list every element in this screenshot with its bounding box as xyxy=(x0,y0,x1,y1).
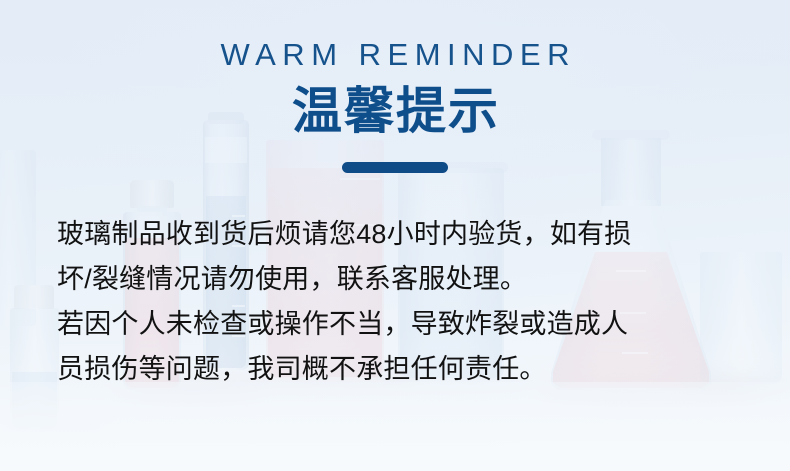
banner-content: WARM REMINDER 温馨提示 玻璃制品收到货后烦请您48小时内验货，如有… xyxy=(0,0,790,471)
notice-line: 员损伤等问题，我司概不承担任何责任。 xyxy=(57,347,747,392)
warm-reminder-banner: WARM REMINDER 温馨提示 玻璃制品收到货后烦请您48小时内验货，如有… xyxy=(0,0,790,471)
divider-bar xyxy=(342,162,448,173)
notice-line: 若因个人未检查或操作不当，导致炸裂或造成人 xyxy=(57,302,747,347)
notice-line: 坏/裂缝情况请勿使用，联系客服处理。 xyxy=(57,257,747,302)
notice-line: 玻璃制品收到货后烦请您48小时内验货，如有损 xyxy=(57,212,747,257)
title-chinese: 温馨提示 xyxy=(0,82,790,140)
title-english: WARM REMINDER xyxy=(0,37,790,73)
notice-body: 玻璃制品收到货后烦请您48小时内验货，如有损 坏/裂缝情况请勿使用，联系客服处理… xyxy=(57,212,747,392)
